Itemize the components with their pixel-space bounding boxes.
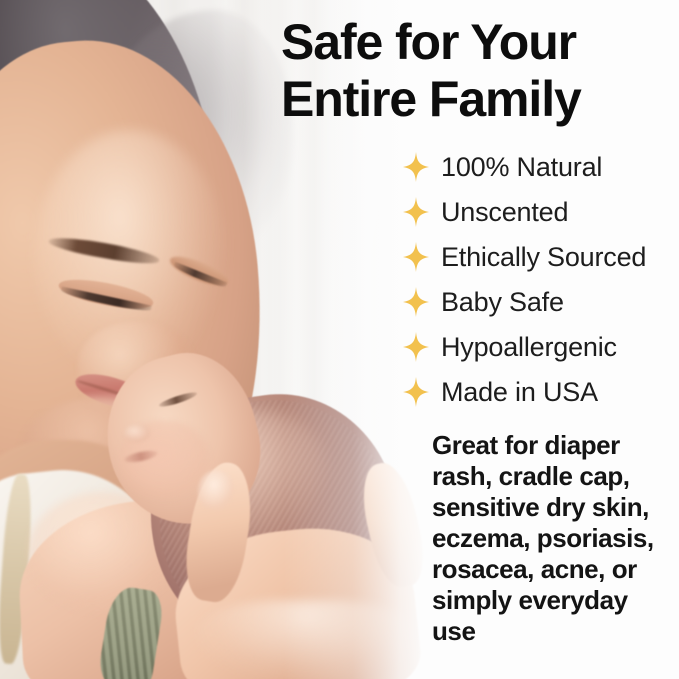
product-feature-card: Safe for Your Entire Family 100% Natural… (0, 0, 679, 679)
feature-list: 100% Natural Unscented Ethically Sourced… (403, 144, 646, 414)
content-column: Safe for Your Entire Family 100% Natural… (279, 0, 679, 679)
list-item: Hypoallergenic (403, 324, 646, 369)
list-item: Ethically Sourced (403, 234, 646, 279)
feature-label: Unscented (441, 197, 568, 227)
sparkle-icon (403, 332, 429, 362)
list-item: Unscented (403, 189, 646, 234)
list-item: 100% Natural (403, 144, 646, 189)
sparkle-icon (403, 377, 429, 407)
list-item: Made in USA (403, 369, 646, 414)
feature-label: Ethically Sourced (441, 242, 646, 272)
page-title: Safe for Your Entire Family (281, 14, 677, 128)
sparkle-icon (403, 242, 429, 272)
baby-nose (124, 424, 150, 442)
feature-label: 100% Natural (441, 152, 602, 182)
list-item: Baby Safe (403, 279, 646, 324)
feature-label: Hypoallergenic (441, 332, 617, 362)
usage-description: Great for diaper rash, cradle cap, sensi… (432, 430, 672, 647)
sparkle-icon (403, 152, 429, 182)
feature-label: Made in USA (441, 377, 598, 407)
sparkle-icon (403, 287, 429, 317)
feature-label: Baby Safe (441, 287, 564, 317)
sparkle-icon (403, 197, 429, 227)
